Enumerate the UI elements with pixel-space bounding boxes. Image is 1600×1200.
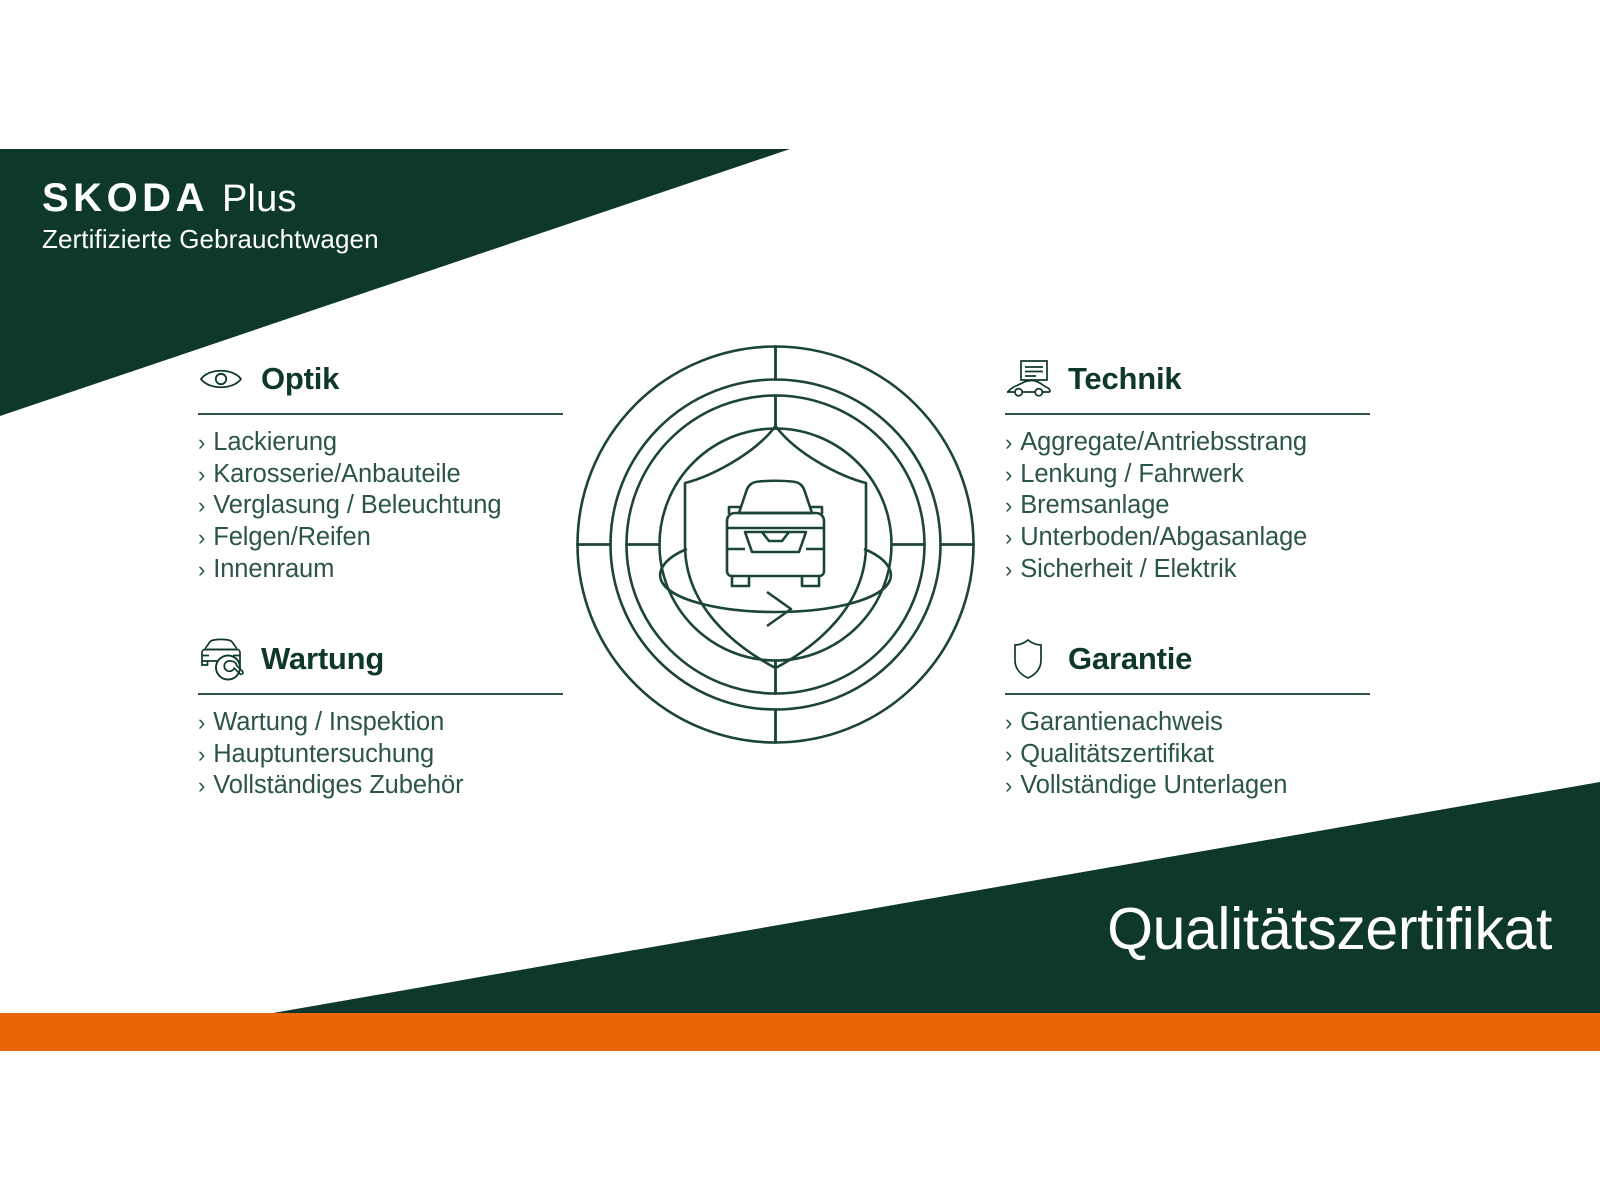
list-item-label: Vollständiges Zubehör xyxy=(213,770,463,802)
list-item: ›Unterboden/Abgasanlage xyxy=(1005,522,1370,554)
section-optik-title: Optik xyxy=(261,361,339,397)
list-item: ›Vollständiges Zubehör xyxy=(198,770,563,802)
emblem-inner-ring xyxy=(627,396,925,694)
section-wartung: Wartung ›Wartung / Inspektion ›Hauptunte… xyxy=(198,636,563,802)
emblem-car-front xyxy=(727,481,824,586)
section-optik-divider xyxy=(198,413,563,415)
chevron-right-icon: › xyxy=(1005,739,1012,771)
list-item-label: Wartung / Inspektion xyxy=(213,707,444,739)
chevron-right-icon: › xyxy=(1005,707,1012,739)
car-wrench-icon xyxy=(198,638,244,680)
chevron-right-icon: › xyxy=(198,770,205,802)
list-item: ›Verglasung / Beleuchtung xyxy=(198,490,563,522)
list-item: ›Qualitätszertifikat xyxy=(1005,739,1370,771)
chevron-right-icon: › xyxy=(198,459,205,491)
chevron-right-icon: › xyxy=(198,554,205,586)
section-technik-header: Technik xyxy=(1005,356,1370,402)
car-document-icon xyxy=(1005,358,1051,400)
section-optik: Optik ›Lackierung ›Karosserie/Anbauteile… xyxy=(198,356,563,586)
chevron-right-icon: › xyxy=(198,739,205,771)
section-garantie-header: Garantie xyxy=(1005,636,1370,682)
shield-icon xyxy=(1005,638,1051,680)
list-item-label: Karosserie/Anbauteile xyxy=(213,459,460,491)
chevron-right-icon: › xyxy=(1005,427,1012,459)
section-wartung-title: Wartung xyxy=(261,641,384,677)
section-garantie: Garantie ›Garantienachweis ›Qualitätszer… xyxy=(1005,636,1370,802)
chevron-right-icon: › xyxy=(1005,459,1012,491)
list-item: ›Karosserie/Anbauteile xyxy=(198,459,563,491)
list-item: ›Aggregate/Antriebsstrang xyxy=(1005,427,1370,459)
list-item-label: Innenraum xyxy=(213,554,334,586)
emblem-shield xyxy=(685,426,866,668)
list-item-label: Garantienachweis xyxy=(1020,707,1223,739)
section-wartung-divider xyxy=(198,693,563,695)
list-item-label: Lenkung / Fahrwerk xyxy=(1020,459,1244,491)
list-item-label: Verglasung / Beleuchtung xyxy=(213,490,501,522)
list-item-label: Sicherheit / Elektrik xyxy=(1020,554,1236,586)
list-item-label: Felgen/Reifen xyxy=(213,522,370,554)
orange-accent-bar xyxy=(0,1013,1600,1051)
section-optik-header: Optik xyxy=(198,356,563,402)
chevron-right-icon: › xyxy=(198,707,205,739)
chevron-right-icon: › xyxy=(1005,554,1012,586)
section-technik: Technik ›Aggregate/Antriebsstrang ›Lenku… xyxy=(1005,356,1370,586)
list-item-label: Qualitätszertifikat xyxy=(1020,739,1214,771)
list-item-label: Unterboden/Abgasanlage xyxy=(1020,522,1307,554)
emblem-orbit-arrow xyxy=(767,592,791,626)
chevron-right-icon: › xyxy=(198,522,205,554)
section-wartung-list: ›Wartung / Inspektion ›Hauptuntersuchung… xyxy=(198,707,563,802)
shield-car-rotation-emblem xyxy=(569,338,982,751)
list-item-label: Hauptuntersuchung xyxy=(213,739,434,771)
section-garantie-list: ›Garantienachweis ›Qualitätszertifikat ›… xyxy=(1005,707,1370,802)
section-garantie-title: Garantie xyxy=(1068,641,1192,677)
list-item: ›Hauptuntersuchung xyxy=(198,739,563,771)
section-technik-divider xyxy=(1005,413,1370,415)
list-item-label: Aggregate/Antriebsstrang xyxy=(1020,427,1307,459)
list-item: ›Felgen/Reifen xyxy=(198,522,563,554)
list-item: ›Lenkung / Fahrwerk xyxy=(1005,459,1370,491)
chevron-right-icon: › xyxy=(1005,770,1012,802)
eye-icon xyxy=(198,358,244,400)
list-item: ›Lackierung xyxy=(198,427,563,459)
list-item: ›Garantienachweis xyxy=(1005,707,1370,739)
brand-lockup: SKODA Plus Zertifizierte Gebrauchtwagen xyxy=(42,178,379,255)
list-item-label: Vollständige Unterlagen xyxy=(1020,770,1287,802)
section-wartung-header: Wartung xyxy=(198,636,563,682)
brand-tagline: Zertifizierte Gebrauchtwagen xyxy=(42,224,379,255)
list-item: ›Vollständige Unterlagen xyxy=(1005,770,1370,802)
emblem-orbit xyxy=(660,549,891,612)
list-item: ›Sicherheit / Elektrik xyxy=(1005,554,1370,586)
chevron-right-icon: › xyxy=(198,427,205,459)
chevron-right-icon: › xyxy=(198,490,205,522)
brand-plus-label: Plus xyxy=(222,180,297,218)
chevron-right-icon: › xyxy=(1005,522,1012,554)
section-optik-list: ›Lackierung ›Karosserie/Anbauteile ›Verg… xyxy=(198,427,563,586)
brand-skoda-wordmark: SKODA xyxy=(42,178,209,218)
list-item: ›Bremsanlage xyxy=(1005,490,1370,522)
chevron-right-icon: › xyxy=(1005,490,1012,522)
section-technik-title: Technik xyxy=(1068,361,1181,397)
list-item: ›Wartung / Inspektion xyxy=(198,707,563,739)
section-technik-list: ›Aggregate/Antriebsstrang ›Lenkung / Fah… xyxy=(1005,427,1370,586)
list-item-label: Bremsanlage xyxy=(1020,490,1169,522)
list-item-label: Lackierung xyxy=(213,427,337,459)
certificate-poster: SKODA Plus Zertifizierte Gebrauchtwagen … xyxy=(0,0,1600,1200)
footer-wordmark: Qualitätszertifikat xyxy=(1107,900,1552,959)
section-garantie-divider xyxy=(1005,693,1370,695)
list-item: ›Innenraum xyxy=(198,554,563,586)
